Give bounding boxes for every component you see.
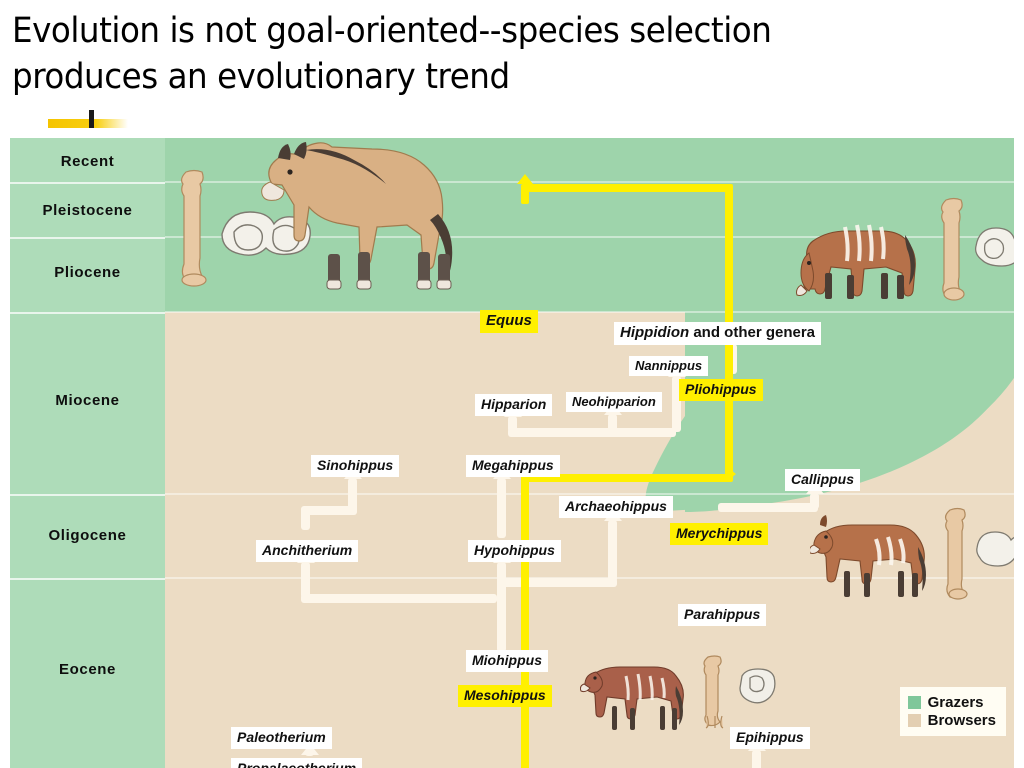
highlight-meso-to-mio-vertical: [521, 478, 529, 660]
epoch-label-miocene: Miocene: [10, 392, 165, 409]
epoch-label-pleistocene: Pleistocene: [10, 202, 165, 219]
arrow-to-equus: [517, 174, 533, 184]
legend-item-browsers: Browsers: [908, 712, 996, 729]
pliohippus-leg-bone: [938, 196, 970, 302]
genus-label-archaeohippus[interactable]: Archaeohippus: [559, 496, 673, 518]
title-underline-bar: [48, 119, 128, 128]
merychippus-illustration: [810, 511, 936, 603]
grid-line-pliocene: [165, 311, 1014, 313]
legend-swatch-grazers: [908, 696, 921, 709]
legend-item-grazers: Grazers: [908, 694, 996, 711]
pliohippus-illustration: [795, 193, 925, 303]
connector-archaeohippus-riser: [608, 520, 617, 582]
legend-swatch-browsers: [908, 714, 921, 727]
connector-hypohippus-trunk: [497, 562, 506, 652]
grid-line-miocene: [165, 493, 1014, 495]
genus-label-hippidion[interactable]: Hippidion and other genera: [614, 322, 821, 345]
epoch-divider-miocene: [10, 494, 165, 496]
legend-label-browsers: Browsers: [928, 712, 996, 729]
epoch-label-pliocene: Pliocene: [10, 264, 165, 281]
genus-label-mesohippus[interactable]: Mesohippus: [458, 685, 552, 707]
title-tick-mark: [89, 110, 94, 128]
epoch-label-recent: Recent: [10, 153, 165, 170]
connector-anchitherium-riser: [301, 562, 310, 598]
connector-hipparion-riser: [508, 416, 517, 432]
genus-label-nannippus[interactable]: Nannippus: [629, 356, 708, 376]
slide-canvas: Evolution is not goal-oriented--species …: [0, 0, 1024, 768]
connector-neohipparion-riser: [608, 414, 617, 434]
highlight-oro-to-meso-vertical: [521, 658, 529, 768]
genus-label-miohippus[interactable]: Miohippus: [466, 650, 548, 672]
epoch-divider-oligocene: [10, 578, 165, 580]
diagram-legend: Grazers Browsers: [900, 687, 1006, 736]
merychippus-leg-bone: [943, 506, 973, 602]
genus-label-propalaeotherium[interactable]: Propalaeotherium: [231, 758, 362, 768]
genus-label-sinohippus[interactable]: Sinohippus: [311, 455, 399, 477]
genus-label-hippidion-suffix: and other genera: [689, 324, 815, 341]
genus-label-paleotherium[interactable]: Paleotherium: [231, 727, 332, 749]
genus-label-epihippus[interactable]: Epihippus: [730, 727, 810, 749]
genus-label-hypohippus[interactable]: Hypohippus: [468, 540, 561, 562]
page-title: Evolution is not goal-oriented--species …: [12, 8, 933, 100]
legend-label-grazers: Grazers: [928, 694, 984, 711]
epoch-label-eocene: Eocene: [10, 661, 165, 678]
epoch-divider-pleistocene: [10, 237, 165, 239]
connector-archaeohippus-base: [497, 578, 617, 587]
genus-label-merychippus[interactable]: Merychippus: [670, 523, 768, 545]
connector-anchitherium-base: [301, 594, 497, 603]
genus-label-pliohippus[interactable]: Pliohippus: [679, 379, 763, 401]
epoch-divider-pliocene: [10, 312, 165, 314]
connector-sinohippus-left-riser: [301, 508, 310, 530]
pliohippus-tooth: [973, 224, 1014, 270]
genus-label-hipparion[interactable]: Hipparion: [475, 394, 552, 416]
connector-epihippus-riser: [752, 750, 761, 768]
connector-sinohippus-riser: [348, 478, 357, 512]
epoch-divider-recent: [10, 182, 165, 184]
highlight-equus-riser: [521, 184, 529, 204]
genus-label-equus[interactable]: Equus: [480, 310, 538, 333]
mesohippus-tooth: [737, 666, 781, 704]
genus-label-neohipparion[interactable]: Neohipparion: [566, 392, 662, 412]
modern-horse-illustration: [232, 142, 482, 292]
genus-label-anchitherium[interactable]: Anchitherium: [256, 540, 358, 562]
epoch-label-oligocene: Oligocene: [10, 527, 165, 544]
mesohippus-leg-bone: [702, 654, 728, 730]
horse-leg-bone-illustration: [176, 168, 212, 288]
connector-callippus-base: [718, 503, 818, 512]
genus-label-hippidion-name: Hippidion: [620, 324, 689, 341]
merychippus-tooth: [973, 528, 1014, 568]
genus-label-megahippus[interactable]: Megahippus: [466, 455, 560, 477]
horse-evolution-diagram: Equus Hippidion and other genera Nannipp…: [10, 138, 1014, 768]
genus-label-parahippus[interactable]: Parahippus: [678, 604, 766, 626]
page-title-line-2: produces an evolutionary trend: [12, 54, 933, 100]
mesohippus-illustration: [580, 654, 692, 732]
highlight-pliohippus-to-equus-horizontal: [525, 184, 733, 192]
genus-label-callippus[interactable]: Callippus: [785, 469, 860, 491]
connector-callippus-riser: [810, 493, 819, 509]
page-title-line-1: Evolution is not goal-oriented--species …: [12, 8, 933, 54]
connector-pliocene-trunk: [508, 428, 676, 437]
connector-megahippus-riser: [497, 478, 506, 538]
